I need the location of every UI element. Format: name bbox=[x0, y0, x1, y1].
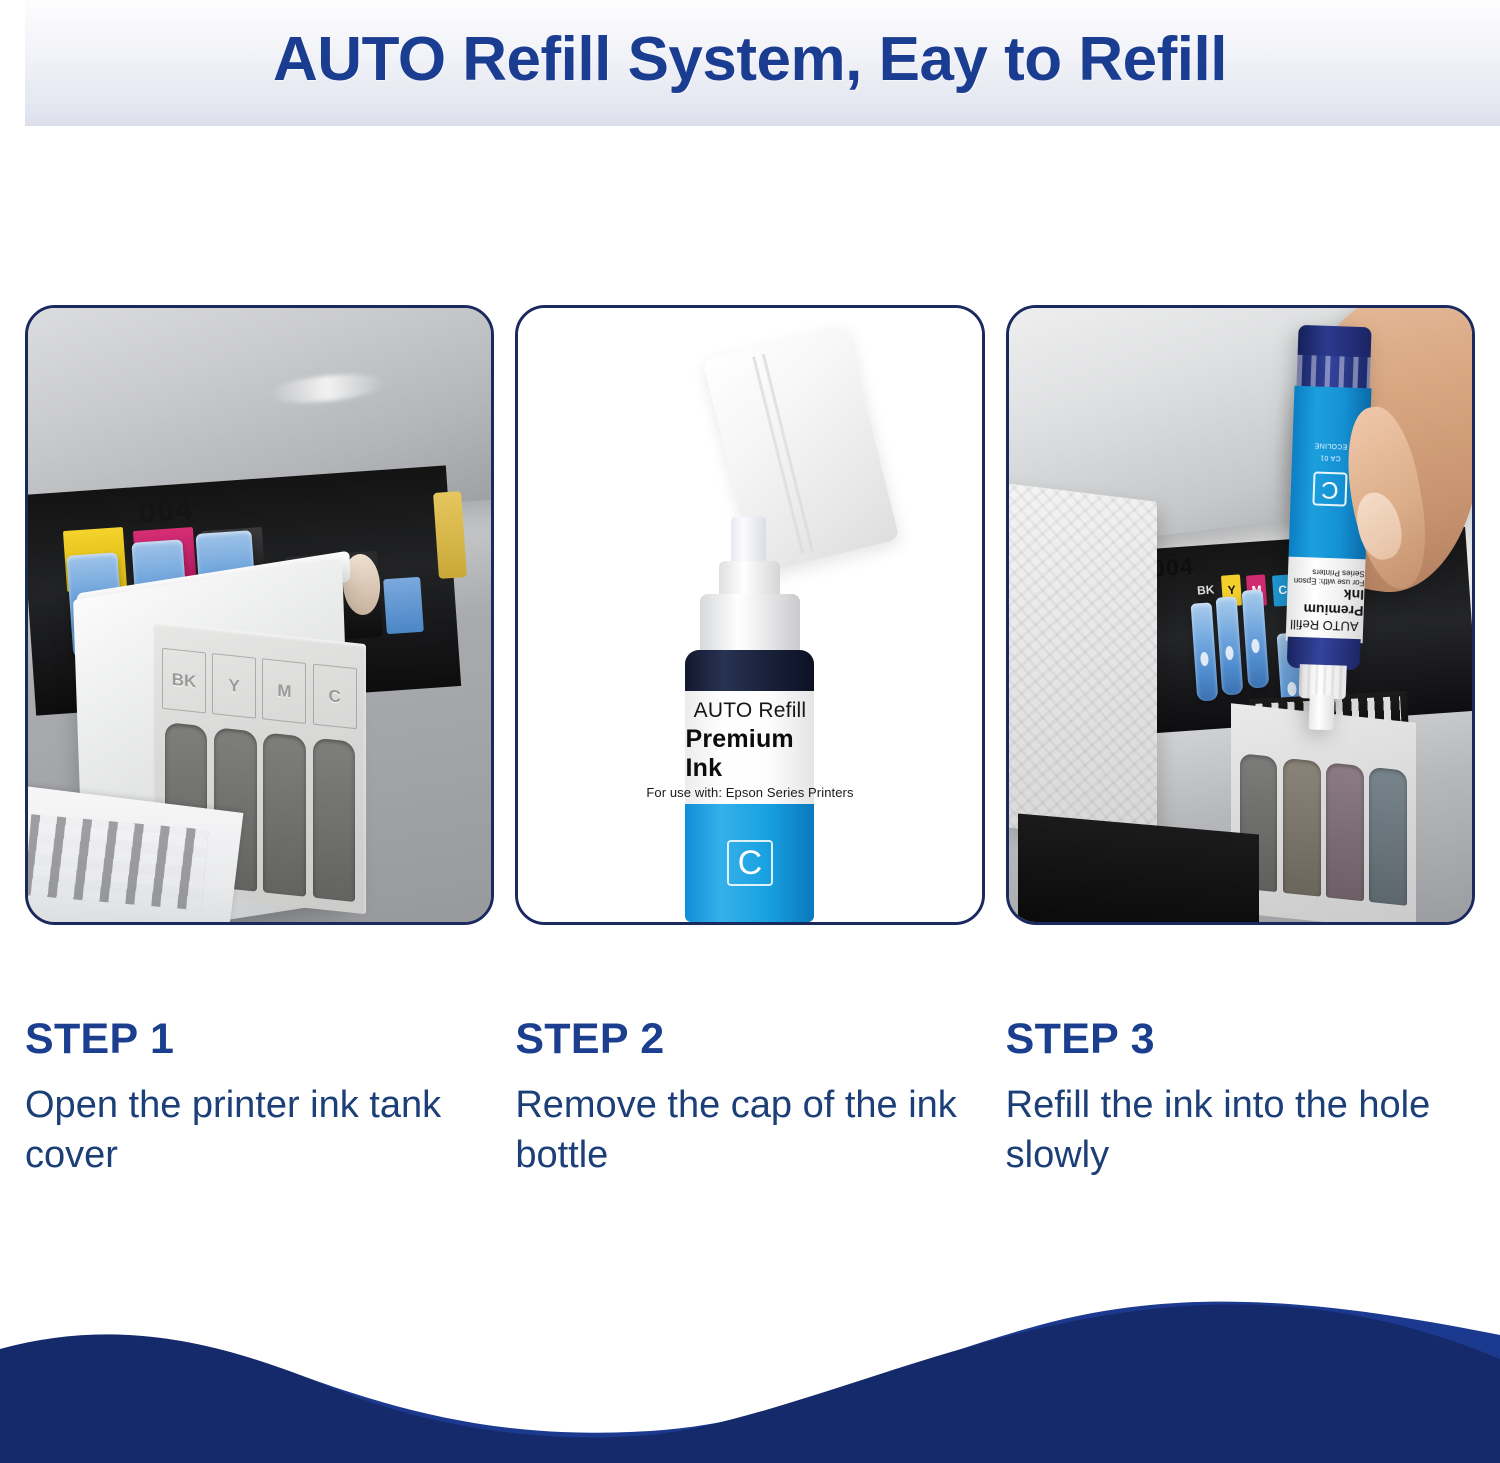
ink-window-m bbox=[1327, 763, 1364, 902]
color-code-badge: C bbox=[1312, 472, 1347, 507]
step-3-caption: STEP 3 Refill the ink into the hole slow… bbox=[1006, 1015, 1475, 1180]
bottle-collar bbox=[700, 594, 799, 659]
ink-level-windows bbox=[1240, 754, 1407, 907]
tank-label-m: M bbox=[263, 658, 307, 724]
bottle-small-line2: CA 01 bbox=[1320, 455, 1341, 463]
wave-front bbox=[0, 1304, 1500, 1463]
ink-window-c bbox=[312, 737, 354, 901]
bottle-label: For use with: Epson Series Printers Prem… bbox=[1286, 557, 1366, 643]
bottle-cyan-section: C bbox=[685, 804, 814, 922]
tank-lever-4 bbox=[383, 577, 424, 635]
refilling-ink-scene: 004 BK Y M C bbox=[1009, 308, 1472, 922]
printer-open-cover-scene: 004 BK Y M C bbox=[28, 308, 491, 922]
bottle-label-line1: AUTO Refill bbox=[694, 699, 807, 723]
printer-model-label: 004 bbox=[1151, 552, 1195, 582]
internal-yellow-part bbox=[433, 491, 467, 579]
promo-infographic: AUTO Refill System, Eay to Refill 004 bbox=[0, 0, 1500, 1463]
bottom-wave-decoration bbox=[0, 1263, 1500, 1463]
bottle-label-line1: AUTO Refill bbox=[1290, 617, 1359, 634]
bottle-label-line2: Premium Ink bbox=[685, 725, 814, 783]
step-2-photo-panel: AUTO Refill Premium Ink For use with: Ep… bbox=[515, 305, 984, 925]
bottle-small-line1: ECOLINE bbox=[1314, 442, 1347, 450]
step-1-title: STEP 1 bbox=[25, 1015, 478, 1064]
step-1-caption: STEP 1 Open the printer ink tank cover bbox=[25, 1015, 494, 1180]
step-3-description: Refill the ink into the hole slowly bbox=[1006, 1080, 1459, 1180]
step-2-title: STEP 2 bbox=[515, 1015, 968, 1064]
step-2-caption: STEP 2 Remove the cap of the ink bottle bbox=[515, 1015, 984, 1180]
step-photo-row: 004 BK Y M C bbox=[25, 305, 1475, 925]
page-title: AUTO Refill System, Eay to Refill bbox=[0, 0, 1500, 118]
bottle-nozzle bbox=[1308, 695, 1334, 730]
step-1-description: Open the printer ink tank cover bbox=[25, 1080, 478, 1180]
port-label-bk: BK bbox=[1195, 574, 1217, 606]
bottle-label-line2: Premium Ink bbox=[1286, 585, 1364, 620]
ink-window-m bbox=[263, 732, 305, 896]
bottle-label: AUTO Refill Premium Ink For use with: Ep… bbox=[685, 691, 814, 809]
bottle-label-line3: For use with: Epson Series Printers bbox=[646, 785, 853, 800]
ink-window-y bbox=[1283, 758, 1320, 897]
tank-label-bk: BK bbox=[162, 648, 206, 714]
color-code-badge: C bbox=[727, 840, 773, 886]
tank-label-y: Y bbox=[213, 653, 257, 719]
textured-side-cover bbox=[1006, 483, 1157, 846]
tank-label-c: C bbox=[313, 664, 357, 730]
step-caption-row: STEP 1 Open the printer ink tank cover S… bbox=[25, 1015, 1475, 1180]
printer-model-label: 004 bbox=[138, 493, 195, 531]
ink-window-c bbox=[1370, 767, 1407, 906]
ink-bottle-scene: AUTO Refill Premium Ink For use with: Ep… bbox=[518, 308, 981, 922]
step-3-title: STEP 3 bbox=[1006, 1015, 1459, 1064]
step-2-description: Remove the cap of the ink bottle bbox=[515, 1080, 968, 1180]
step-3-photo-panel: 004 BK Y M C bbox=[1006, 305, 1475, 925]
ink-bottle: AUTO Refill Premium Ink For use with: Ep… bbox=[683, 517, 817, 922]
step-1-photo-panel: 004 BK Y M C bbox=[25, 305, 494, 925]
